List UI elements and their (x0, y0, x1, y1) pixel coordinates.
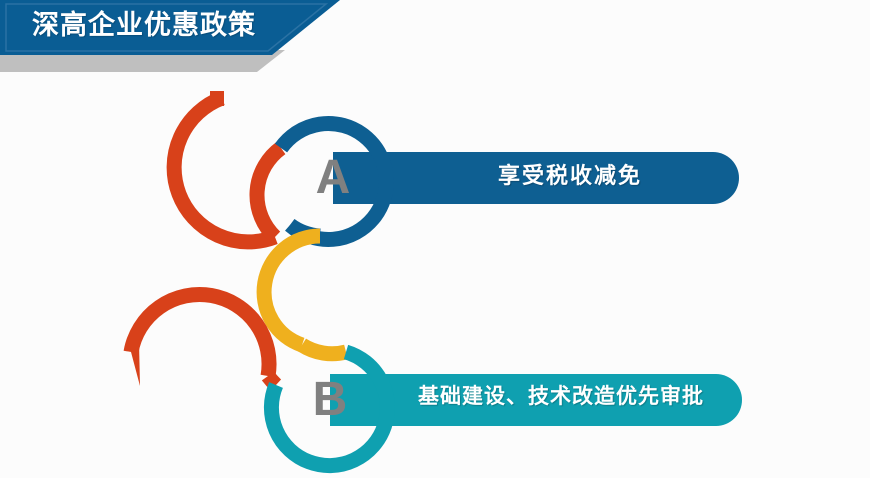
yellow-arc-lower (302, 345, 346, 354)
header-banner: 深高企业优惠政策 (0, 0, 400, 72)
page-title: 深高企业优惠政策 (32, 5, 332, 45)
pill-label-a: 享受税收减免 (400, 160, 740, 192)
slide-canvas: A B 享受税收减免 基础建设、技术改造优先审批 深高企业优惠政策 (0, 0, 870, 478)
upper-red-crossover (257, 148, 281, 237)
yellow-arc (264, 236, 320, 345)
node-letter-b: B (300, 370, 360, 430)
upper-red-arc-cap (210, 91, 224, 106)
lower-red-arc (131, 294, 269, 376)
node-letter-a: A (303, 148, 363, 208)
pill-label-b: 基础建设、技术改造优先审批 (378, 382, 744, 412)
